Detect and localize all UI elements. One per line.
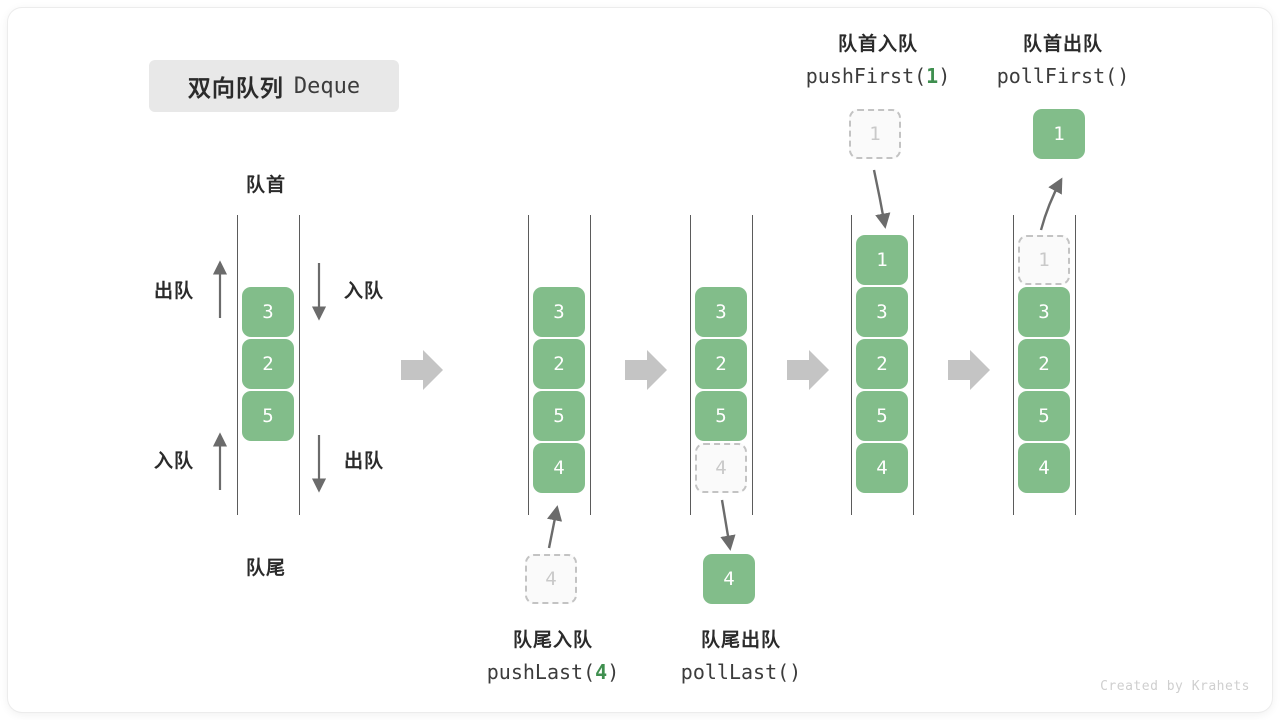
step-arrow <box>787 350 829 390</box>
caption-poll-last-en: pollLast() <box>616 656 866 688</box>
rail-left-panel-4 <box>851 215 852 515</box>
element-box-ghost: 1 <box>1018 235 1070 285</box>
caption-poll-first: 队首出队 pollFirst() <box>938 30 1188 92</box>
step-arrow <box>948 350 990 390</box>
side-label-left-bottom: 入队 <box>154 446 194 473</box>
floating-solid-box: 4 <box>703 554 755 604</box>
title-english: Deque <box>294 74 360 99</box>
element-box: 3 <box>533 287 585 337</box>
rail-left-panel-1 <box>237 215 238 515</box>
step-arrow <box>401 350 443 390</box>
element-box: 3 <box>1018 287 1070 337</box>
element-box: 2 <box>695 339 747 389</box>
element-box: 5 <box>695 391 747 441</box>
element-box: 2 <box>533 339 585 389</box>
arrow-poll-last <box>722 500 730 548</box>
element-box: 3 <box>242 287 294 337</box>
arrow-push-first <box>874 170 885 226</box>
caption-poll-first-en: pollFirst() <box>938 60 1188 92</box>
watermark: Created by Krahets <box>1100 679 1250 694</box>
side-label-right-top: 入队 <box>344 276 384 303</box>
rail-left-panel-5 <box>1013 215 1014 515</box>
element-box-ghost: 4 <box>695 443 747 493</box>
arrow-poll-first <box>1041 180 1061 230</box>
side-label-right-bottom: 出队 <box>344 446 384 473</box>
element-box: 4 <box>856 443 908 493</box>
tail-label: 队尾 <box>246 553 286 580</box>
floating-solid-box: 1 <box>1033 109 1085 159</box>
rail-right-panel-5 <box>1075 215 1076 515</box>
step-arrow <box>625 350 667 390</box>
element-box: 4 <box>1018 443 1070 493</box>
element-box: 1 <box>856 235 908 285</box>
element-box: 5 <box>856 391 908 441</box>
element-box: 2 <box>856 339 908 389</box>
head-label: 队首 <box>246 170 286 197</box>
element-box: 2 <box>1018 339 1070 389</box>
caption-poll-last-cn: 队尾出队 <box>616 626 866 656</box>
title-chinese: 双向队列 <box>188 69 284 103</box>
rail-left-panel-2 <box>528 215 529 515</box>
element-box: 3 <box>695 287 747 337</box>
diagram-title: 双向队列 Deque <box>149 60 399 112</box>
element-box: 5 <box>1018 391 1070 441</box>
element-box: 4 <box>533 443 585 493</box>
caption-poll-last: 队尾出队 pollLast() <box>616 626 866 688</box>
rail-right-panel-1 <box>299 215 300 515</box>
diagram-card: 双向队列 Deque 队首 队尾 出队 入队 入队 出队 队首入队 pushFi… <box>8 8 1272 712</box>
side-label-left-top: 出队 <box>154 276 194 303</box>
element-box: 5 <box>533 391 585 441</box>
caption-poll-first-cn: 队首出队 <box>938 30 1188 60</box>
floating-ghost-box: 1 <box>849 109 901 159</box>
rail-right-panel-3 <box>752 215 753 515</box>
rail-right-panel-2 <box>590 215 591 515</box>
floating-ghost-box: 4 <box>525 554 577 604</box>
rail-right-panel-4 <box>913 215 914 515</box>
element-box: 2 <box>242 339 294 389</box>
element-box: 3 <box>856 287 908 337</box>
arrow-push-last <box>549 508 557 548</box>
element-box: 5 <box>242 391 294 441</box>
rail-left-panel-3 <box>690 215 691 515</box>
